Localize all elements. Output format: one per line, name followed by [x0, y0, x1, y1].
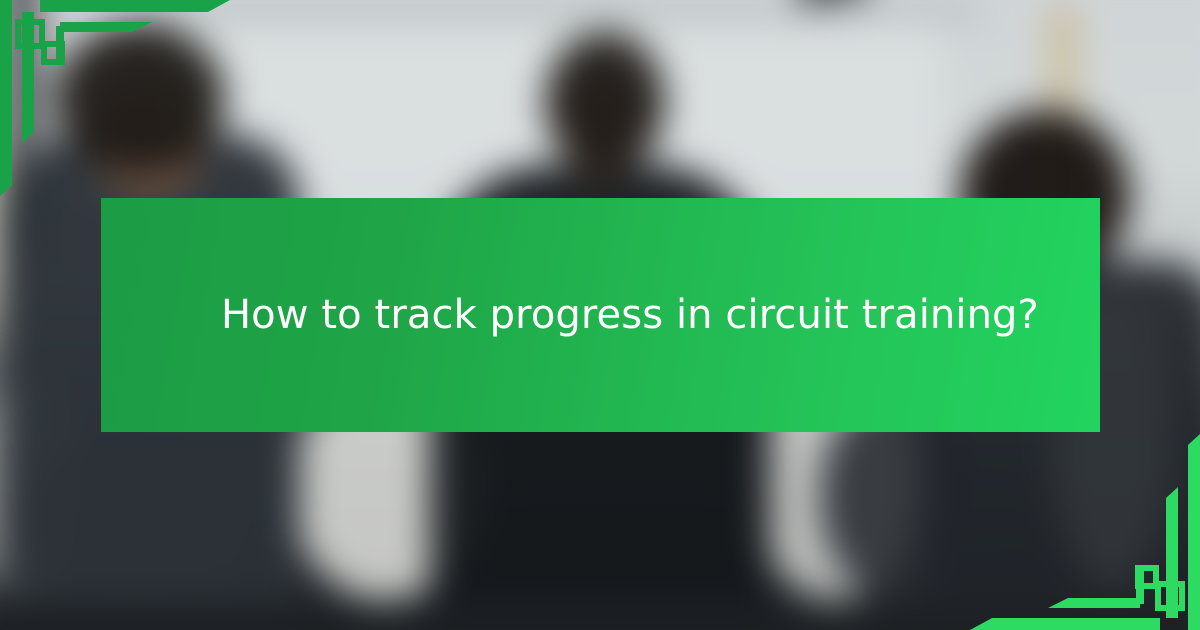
share-card: How to track progress in circuit trainin…	[0, 0, 1200, 630]
background-wall-trim	[140, 0, 980, 24]
headline-banner: How to track progress in circuit trainin…	[101, 198, 1100, 432]
page-title: How to track progress in circuit trainin…	[221, 291, 1039, 339]
background-person-head-a	[55, 24, 225, 174]
background-person-head-b	[545, 32, 665, 172]
